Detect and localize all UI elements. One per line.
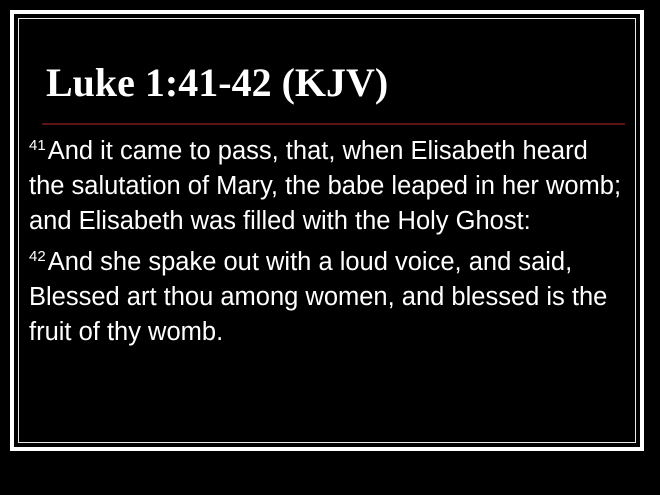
scripture-body: 41And it came to pass, that, when Elisab…	[29, 134, 625, 356]
title-divider-rule	[42, 123, 625, 125]
slide-content: Luke 1:41-42 (KJV) 41And it came to pass…	[19, 19, 635, 442]
verse-number: 42	[29, 248, 46, 265]
verse-number: 41	[29, 137, 46, 154]
verse-text: And it came to pass, that, when Elisabet…	[29, 137, 628, 235]
slide-canvas: Luke 1:41-42 (KJV) 41And it came to pass…	[0, 0, 660, 495]
verse-paragraph: 42And she spake out with a loud voice, a…	[29, 245, 625, 350]
slide-title: Luke 1:41-42 (KJV)	[46, 61, 616, 105]
verse-paragraph: 41And it came to pass, that, when Elisab…	[29, 134, 625, 239]
verse-text: And she spake out with a loud voice, and…	[29, 248, 614, 346]
